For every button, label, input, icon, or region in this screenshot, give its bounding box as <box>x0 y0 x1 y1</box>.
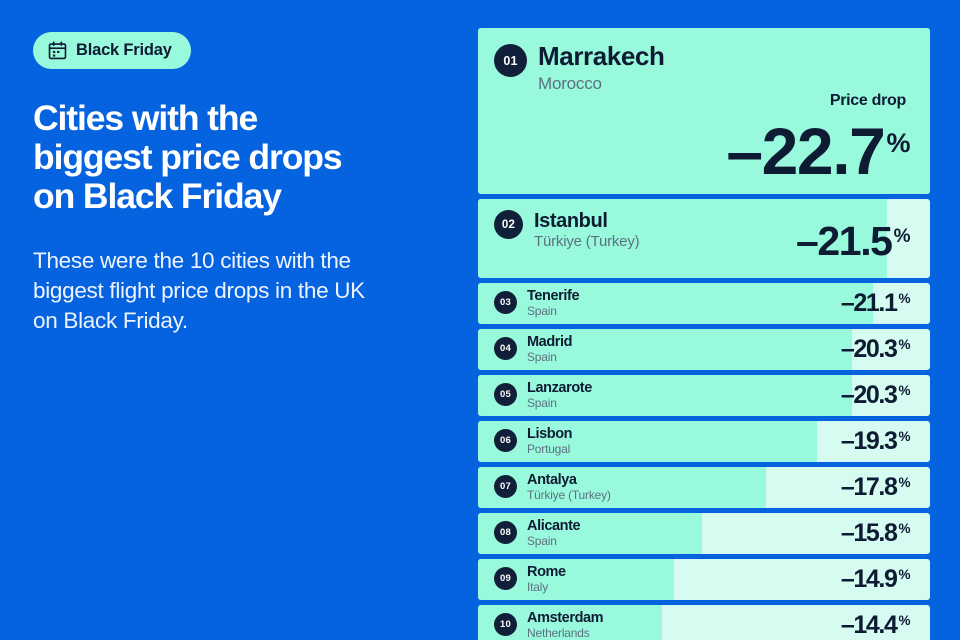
price-drop-value: –14.4% <box>841 613 910 638</box>
page-title: Cities with the biggest price drops on B… <box>33 99 440 216</box>
percent-sign: % <box>898 384 910 398</box>
destination-names: MarrakechMorocco <box>538 42 930 95</box>
chart-row: 09RomeItaly–14.9% <box>478 559 930 600</box>
value-number: –22.7 <box>726 120 884 183</box>
rank-badge: 05 <box>494 383 517 406</box>
percent-sign: % <box>898 292 910 306</box>
chart-row: 06LisbonPortugal–19.3% <box>478 421 930 462</box>
value-number: –17.8 <box>841 475 897 500</box>
percent-sign: % <box>898 522 910 536</box>
price-drop-value: –17.8% <box>841 475 910 500</box>
page-subtitle: These were the 10 cities with the bigges… <box>33 246 440 336</box>
chart-row: 05LanzaroteSpain–20.3% <box>478 375 930 416</box>
rank-badge: 10 <box>494 613 517 636</box>
rank-badge: 07 <box>494 475 517 498</box>
rank-badge: 04 <box>494 337 517 360</box>
value-number: –20.3 <box>841 383 897 408</box>
intro-panel: Black Friday Cities with the biggest pri… <box>0 0 470 640</box>
value-number: –21.1 <box>841 291 897 316</box>
price-drop-value: –19.3% <box>841 429 910 454</box>
chart-row: 01MarrakechMoroccoPrice drop–22.7% <box>478 28 930 194</box>
value-number: –14.4 <box>841 613 897 638</box>
city-name: Marrakech <box>538 42 930 71</box>
percent-sign: % <box>898 476 910 490</box>
chart-row: 04MadridSpain–20.3% <box>478 329 930 370</box>
price-drop-label: Price drop <box>830 92 906 110</box>
price-drop-ranking-chart: 01MarrakechMoroccoPrice drop–22.7%02Ista… <box>478 28 930 616</box>
chart-row: 10AmsterdamNetherlands–14.4% <box>478 605 930 640</box>
value-number: –15.8 <box>841 521 897 546</box>
black-friday-badge: Black Friday <box>33 32 191 69</box>
value-number: –14.9 <box>841 567 897 592</box>
rank-badge: 09 <box>494 567 517 590</box>
percent-sign: % <box>886 131 910 157</box>
percent-sign: % <box>894 227 910 246</box>
value-number: –21.5 <box>796 221 892 262</box>
badge-label: Black Friday <box>76 41 172 60</box>
price-drop-value: –14.9% <box>841 567 910 592</box>
price-drop-value: –21.1% <box>841 291 910 316</box>
percent-sign: % <box>898 568 910 582</box>
value-number: –20.3 <box>841 337 897 362</box>
chart-row: 02IstanbulTürkiye (Turkey)–21.5% <box>478 199 930 278</box>
price-drop-value: –15.8% <box>841 521 910 546</box>
price-drop-value: –21.5% <box>796 221 910 262</box>
rank-badge: 02 <box>494 210 523 239</box>
rank-badge: 01 <box>494 44 527 77</box>
price-drop-value: –20.3% <box>841 337 910 362</box>
rank-badge: 06 <box>494 429 517 452</box>
chart-row: 03TenerifeSpain–21.1% <box>478 283 930 324</box>
chart-row: 07AntalyaTürkiye (Turkey)–17.8% <box>478 467 930 508</box>
price-drop-value: –20.3% <box>841 383 910 408</box>
percent-sign: % <box>898 338 910 352</box>
rank-badge: 03 <box>494 291 517 314</box>
value-number: –19.3 <box>841 429 897 454</box>
chart-row: 08AlicanteSpain–15.8% <box>478 513 930 554</box>
percent-sign: % <box>898 614 910 628</box>
rank-badge: 08 <box>494 521 517 544</box>
calendar-icon <box>48 41 67 60</box>
percent-sign: % <box>898 430 910 444</box>
price-drop-value: –22.7% <box>726 120 910 183</box>
